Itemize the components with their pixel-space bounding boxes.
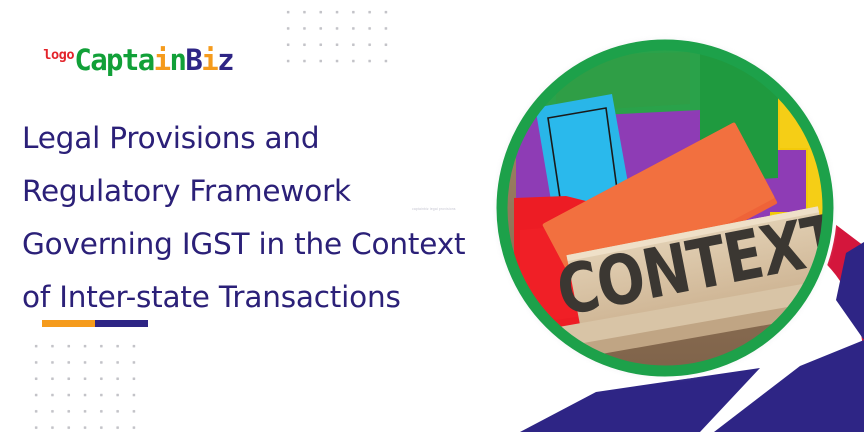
logo-letter-i-1: i: [154, 43, 170, 77]
accent-rule-navy: [95, 320, 148, 327]
logo-letter-n: n: [170, 43, 186, 77]
banner-canvas: CONTEXT logo CaptainBiz Legal Provisions…: [0, 0, 864, 432]
logo-superscript-text: logo: [43, 49, 74, 62]
title-line-4: of Inter-state Transactions: [22, 271, 492, 324]
logo-letter-z: z: [217, 43, 233, 77]
title-line-3: Governing IGST in the Context: [22, 218, 492, 271]
logo-letters-apta: apta: [90, 43, 153, 77]
logo-letter-i-2: i: [201, 43, 217, 77]
logo-letter-b: B: [185, 43, 201, 77]
captainbiz-logo[interactable]: logo CaptainBiz: [44, 47, 233, 75]
page-title: Legal Provisions and Regulatory Framewor…: [22, 112, 492, 324]
watermark-text: captainbiz legal provisions: [412, 207, 456, 211]
title-line-1: Legal Provisions and: [22, 112, 492, 165]
title-accent-rule: [42, 320, 148, 327]
logo-wordmark: CaptainBiz: [74, 47, 233, 75]
logo-letter-c: C: [74, 43, 90, 77]
accent-rule-orange: [42, 320, 95, 327]
